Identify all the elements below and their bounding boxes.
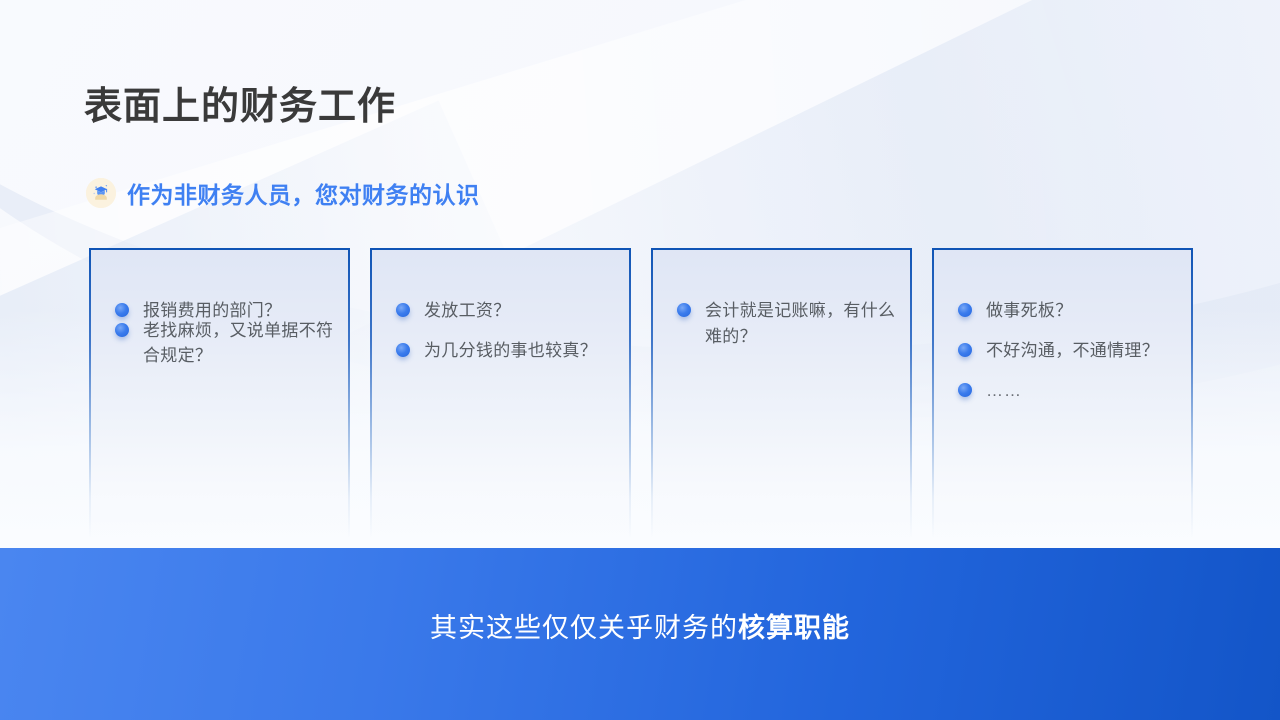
list-item: 不好沟通，不通情理？ <box>958 338 1177 364</box>
card-expense: 报销费用的部门？ 老找麻烦，又说单据不符合规定？ <box>89 248 350 538</box>
card-bullet-list: 做事死板？ 不好沟通，不通情理？ …… <box>958 298 1177 417</box>
bullet-text: 不好沟通，不通情理？ <box>986 338 1159 364</box>
bullet-text: …… <box>986 378 1022 404</box>
card-border-right <box>348 248 350 538</box>
list-item: 会计就是记账嘛，有什么难的？ <box>677 298 896 350</box>
card-border-left <box>89 248 91 538</box>
banner-emphasis-text: 核算职能 <box>738 613 850 643</box>
banner-lead-text: 其实这些仅仅关乎财务的 <box>430 613 738 643</box>
subtitle-text: 作为非财务人员，您对财务的认识 <box>127 176 480 210</box>
slide: 表面上的财务工作 作为非财务人员，您对财务的认识 <box>0 0 1280 720</box>
card-border-left <box>370 248 372 538</box>
list-item: 做事死板？ <box>958 298 1177 324</box>
card-bullet-list: 会计就是记账嘛，有什么难的？ <box>677 298 896 364</box>
banner-text: 其实这些仅仅关乎财务的核算职能 <box>430 606 850 645</box>
list-item: 发放工资？ <box>396 298 615 324</box>
bottom-banner: 其实这些仅仅关乎财务的核算职能 <box>0 548 1280 720</box>
bullet-dot-icon <box>958 383 972 397</box>
graduate-person-icon <box>86 178 116 208</box>
page-title: 表面上的财务工作 <box>84 88 396 126</box>
list-item: 老找麻烦，又说单据不符合规定？ <box>115 318 334 369</box>
bullet-dot-icon <box>115 303 129 317</box>
card-rigid: 做事死板？ 不好沟通，不通情理？ …… <box>932 248 1193 538</box>
list-item: 为几分钱的事也较真？ <box>396 338 615 364</box>
bullet-text: 做事死板？ <box>986 298 1073 324</box>
card-bullet-list: 发放工资？ 为几分钱的事也较真？ <box>396 298 615 378</box>
card-bookkeeping: 会计就是记账嘛，有什么难的？ <box>651 248 912 538</box>
card-border-top <box>932 248 1193 250</box>
bullet-dot-icon <box>115 323 129 337</box>
card-payroll: 发放工资？ 为几分钱的事也较真？ <box>370 248 631 538</box>
subtitle-row: 作为非财务人员，您对财务的认识 <box>86 176 480 210</box>
bullet-dot-icon <box>677 303 691 317</box>
card-border-right <box>910 248 912 538</box>
card-border-top <box>370 248 631 250</box>
bullet-text: 老找麻烦，又说单据不符合规定？ <box>143 318 334 369</box>
card-background <box>89 248 350 538</box>
card-border-top <box>651 248 912 250</box>
card-border-left <box>932 248 934 538</box>
list-item: …… <box>958 378 1177 404</box>
card-bullet-list: 报销费用的部门？ 老找麻烦，又说单据不符合规定？ <box>115 298 334 363</box>
card-border-top <box>89 248 350 250</box>
card-border-right <box>629 248 631 538</box>
card-background <box>651 248 912 538</box>
card-background <box>370 248 631 538</box>
bullet-text: 发放工资？ <box>424 298 511 324</box>
cards-row: 报销费用的部门？ 老找麻烦，又说单据不符合规定？ 发放工资？ <box>89 248 1193 538</box>
card-border-right <box>1191 248 1193 538</box>
bullet-text: 会计就是记账嘛，有什么难的？ <box>705 298 896 350</box>
bullet-text: 为几分钱的事也较真？ <box>424 338 597 364</box>
bullet-dot-icon <box>958 343 972 357</box>
bullet-dot-icon <box>958 303 972 317</box>
bullet-dot-icon <box>396 343 410 357</box>
bullet-dot-icon <box>396 303 410 317</box>
card-border-left <box>651 248 653 538</box>
